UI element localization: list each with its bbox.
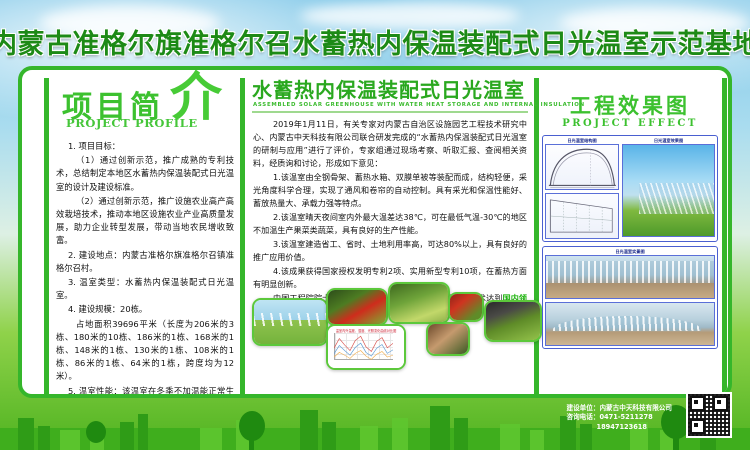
drawing-greenhouse-section	[545, 144, 619, 190]
qr-code[interactable]	[686, 392, 732, 438]
project-profile-body: 1. 项目目标： （1）通过创新示范，推广成熟的专利技术，总结制定本地区水蓄热内…	[56, 140, 234, 398]
contact-mobile-value: 18947123618	[567, 423, 673, 433]
contact-phone-line: 咨询电话：0471-5211278	[567, 413, 673, 423]
chart-thumbnail: 温室内外温度、湿度、光照变化曲线对比图	[328, 326, 404, 368]
photo-thumb	[486, 302, 540, 340]
section-greenhouse-overview: 水蓄热内保温装配式日光温室 ASSEMBLED SOLAR GREENHOUSE…	[250, 76, 530, 396]
photo-greenhouse-exterior	[622, 144, 715, 237]
chart-lines	[334, 333, 393, 361]
overview-paragraph: 2019年1月11日，有关专家对内蒙古自治区设施园艺工程技术研究中心、内蒙古中天…	[253, 118, 527, 170]
section-project-profile: 项目简 介 PROJECT PROFILE 1. 项目目标： （1）通过创新示范…	[52, 76, 234, 396]
profile-paragraph: （1）通过创新示范，推广成熟的专利技术，总结制定本地区水蓄热内保温装配式日光温室…	[56, 154, 234, 194]
photo-greenhouse-long	[545, 302, 715, 346]
photo-collage: 温室内外温度、湿度、光照变化曲线对比图	[246, 278, 536, 396]
drawing-greenhouse-plan	[545, 193, 619, 239]
photo-greenhouse-interior	[484, 300, 542, 342]
photo-thumb	[428, 324, 468, 354]
qr-finder-icon	[713, 396, 728, 411]
effect-panel-top: 日光温室结构图 日光温室效果图	[542, 135, 718, 242]
photo-thumb	[328, 290, 386, 324]
effect-panel-bottom: 日光温室实景图	[542, 246, 718, 349]
section-project-effect: 工程效果图 PROJECT EFFECT 日光温室结构图 日光温室效果图	[542, 76, 718, 396]
photo-data-chart: 温室内外温度、湿度、光照变化曲线对比图	[326, 324, 406, 370]
contact-phone-value: 0471-5211278	[599, 413, 652, 421]
project-profile-heading: 项目简 介 PROJECT PROFILE	[52, 76, 234, 138]
contact-unit-value: 内蒙古中天科技有限公司	[599, 404, 672, 412]
divider-right-outer	[722, 78, 727, 394]
overview-title: 水蓄热内保温装配式日光温室	[252, 78, 530, 102]
qr-finder-icon	[690, 419, 705, 434]
poster-title-bar: 内蒙古准格尔旗准格尔召水蓄热内保温装配式日光温室示范基地	[0, 22, 750, 68]
photo-crop-inspection	[326, 288, 388, 326]
overview-divider	[252, 111, 528, 113]
profile-paragraph: 4. 建设规模：20栋。	[56, 303, 234, 316]
effect-image-row	[545, 144, 715, 239]
photo-thumb	[390, 284, 448, 322]
footer-contact: 建设单位：内蒙古中天科技有限公司 咨询电话：0471-5211278 18947…	[567, 404, 673, 433]
overview-paragraph: 2.该温室晴天夜间室内外最大温差达38℃，可在最低气温-30℃的地区不加温生产果…	[253, 211, 527, 237]
contact-phone-label: 咨询电话：	[567, 413, 600, 421]
contact-unit-label: 建设单位：	[567, 404, 600, 412]
photo-greenhouse-rows	[545, 255, 715, 299]
profile-paragraph: 3. 温室类型：水蓄热内保温装配式日光温室。	[56, 276, 234, 302]
page-title: 内蒙古准格尔旗准格尔召水蓄热内保温装配式日光温室示范基地	[0, 30, 750, 60]
overview-subtitle-en: ASSEMBLED SOLAR GREENHOUSE WITH WATER HE…	[253, 102, 530, 108]
profile-paragraph: （2）通过创新示范，推广设施农业高产高效栽培技术，推动本地区设施农业产业高质量发…	[56, 195, 234, 248]
photo-tomato-crop	[388, 282, 450, 324]
profile-paragraph: 占地面积39696平米（长度为206米的3栋、180米的10栋、186米的1栋、…	[56, 318, 234, 384]
overview-paragraph: 3.该温室建造省工、省时、土地利用率高，可达80%以上，具有良好的推广应用价值。	[253, 238, 527, 264]
content-card: 项目简 介 PROJECT PROFILE 1. 项目目标： （1）通过创新示范…	[18, 66, 732, 398]
divider-left-inner	[240, 78, 245, 394]
profile-paragraph: 2. 建设地点：内蒙古准格尔旗准格尔召镇准格尔召村。	[56, 249, 234, 275]
poster-root: 内蒙古准格尔旗准格尔召水蓄热内保温装配式日光温室示范基地 项目简 介 PROJE…	[0, 0, 750, 450]
photo-thumb	[254, 300, 326, 344]
profile-paragraph: 1. 项目目标：	[56, 140, 234, 153]
chart-series-light	[334, 350, 393, 359]
qr-finder-icon	[690, 396, 705, 411]
photo-sign-board	[448, 292, 484, 322]
project-profile-title-en: PROJECT PROFILE	[66, 116, 198, 130]
project-effect-title-en: PROJECT EFFECT	[542, 118, 718, 129]
overview-paragraph: 1.该温室由全钢骨架、蓄热水箱、双膜单被等装配而成，结构轻便，采光角度科学合理，…	[253, 171, 527, 210]
project-effect-title-cn: 工程效果图	[542, 94, 718, 118]
divider-left-outer	[44, 78, 49, 394]
photo-greenhouse-tunnel	[252, 298, 328, 346]
photo-thumb	[450, 294, 482, 320]
contact-unit-line: 建设单位：内蒙古中天科技有限公司	[567, 404, 673, 414]
photo-expert-portrait	[426, 322, 470, 356]
